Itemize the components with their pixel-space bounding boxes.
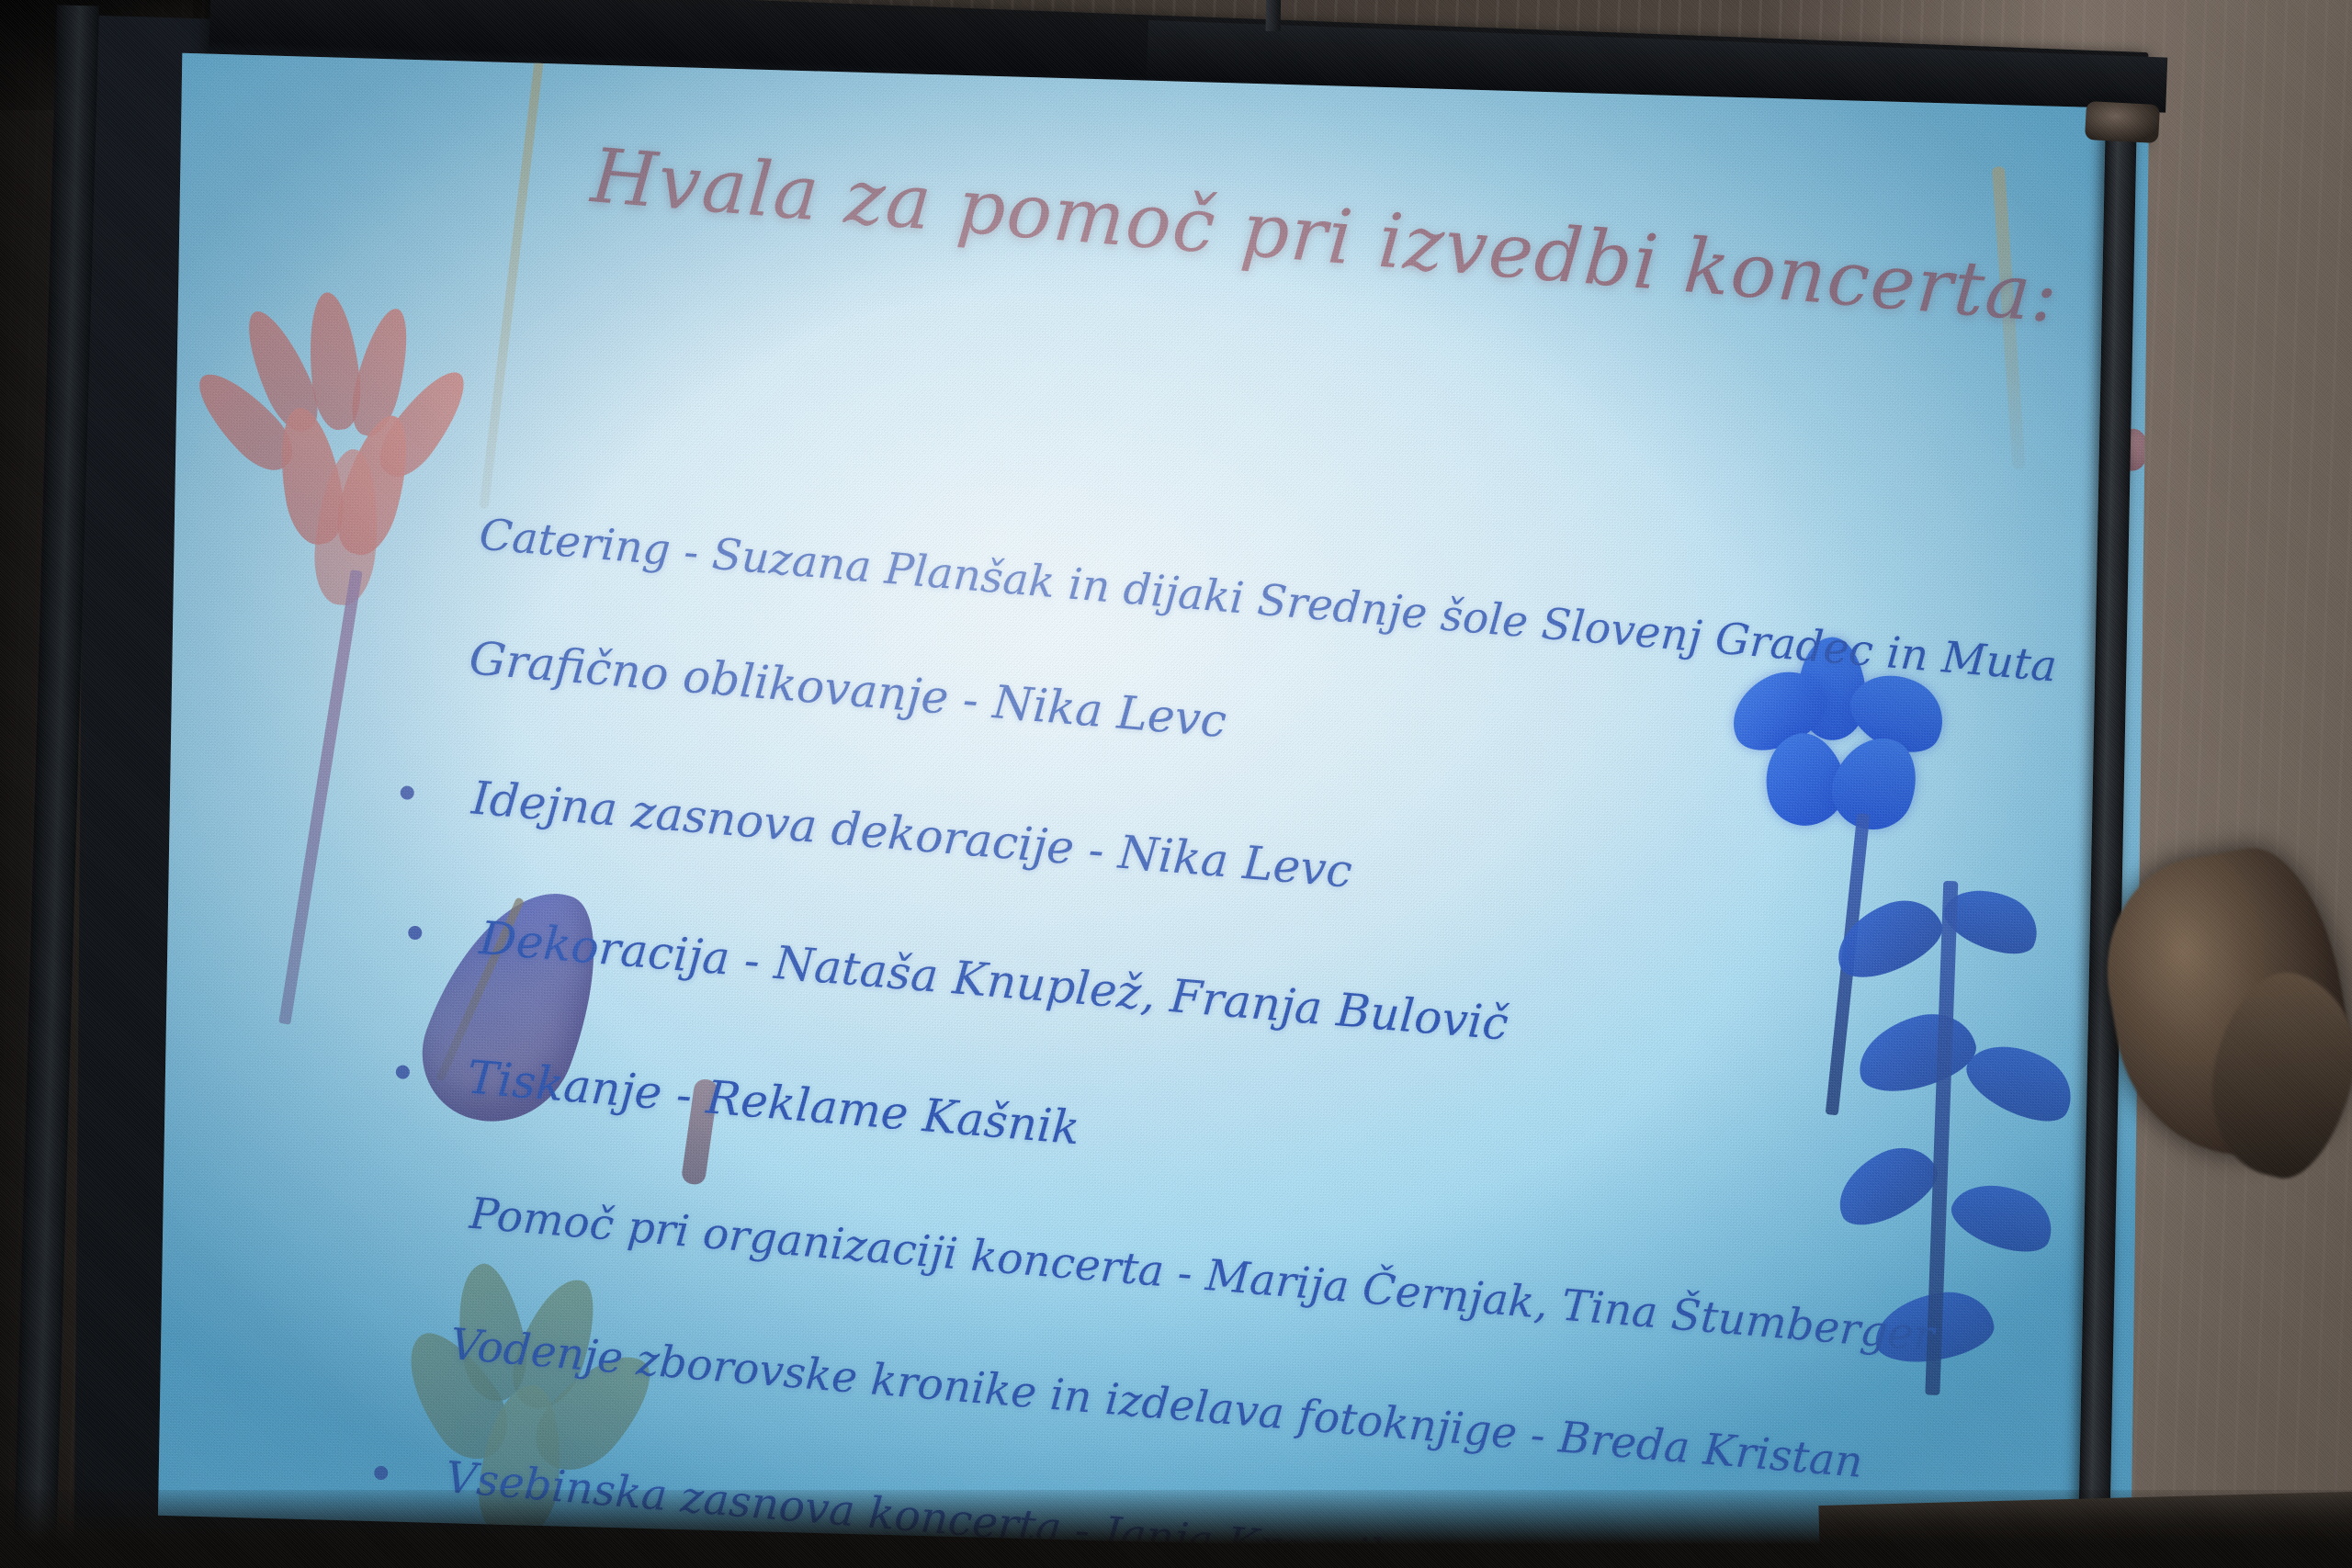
- photograph: Hvala za pomoč pri izvedbi koncerta: Cat…: [0, 0, 2352, 1568]
- bullet-label: Pomoč pri organizaciji koncerta - Marija…: [468, 1189, 1936, 1362]
- slide-content-layer: Hvala za pomoč pri izvedbi koncerta: Cat…: [138, 22, 2159, 1568]
- bullet-label: Idejna zasnova dekoracije - Nika Levc: [469, 772, 1354, 898]
- screen-support-pole: [1265, 0, 1281, 31]
- bullet-label: Grafično oblikovanje - Nika Levc: [468, 631, 1228, 748]
- projected-slide: Hvala za pomoč pri izvedbi koncerta: Cat…: [138, 22, 2159, 1568]
- screen-top-knob: [2085, 101, 2160, 143]
- bullet-point-icon: [400, 785, 414, 800]
- bullet-label: Vodenje zborovske kronike in izdelava fo…: [448, 1319, 1864, 1488]
- slide-title: Hvala za pomoč pri izvedbi koncerta:: [588, 137, 1968, 329]
- bullet-point-icon: [395, 1065, 410, 1079]
- floor-shadow: [0, 1490, 2352, 1568]
- bullet-point-icon: [374, 1465, 389, 1480]
- pale-stem-top-left: [479, 22, 551, 509]
- slide-bullet-list: Catering - Suzana Planšak in dijaki Sred…: [436, 508, 2159, 993]
- projection-screen-assembly: Hvala za pomoč pri izvedbi koncerta: Cat…: [0, 0, 2223, 1568]
- bullet-label: Tiskanje - Reklame Kašnik: [465, 1051, 1081, 1156]
- bullet-point-icon: [408, 925, 423, 940]
- bullet-label: Dekoracija - Nataša Knuplež, Franja Bulo…: [478, 911, 1510, 1051]
